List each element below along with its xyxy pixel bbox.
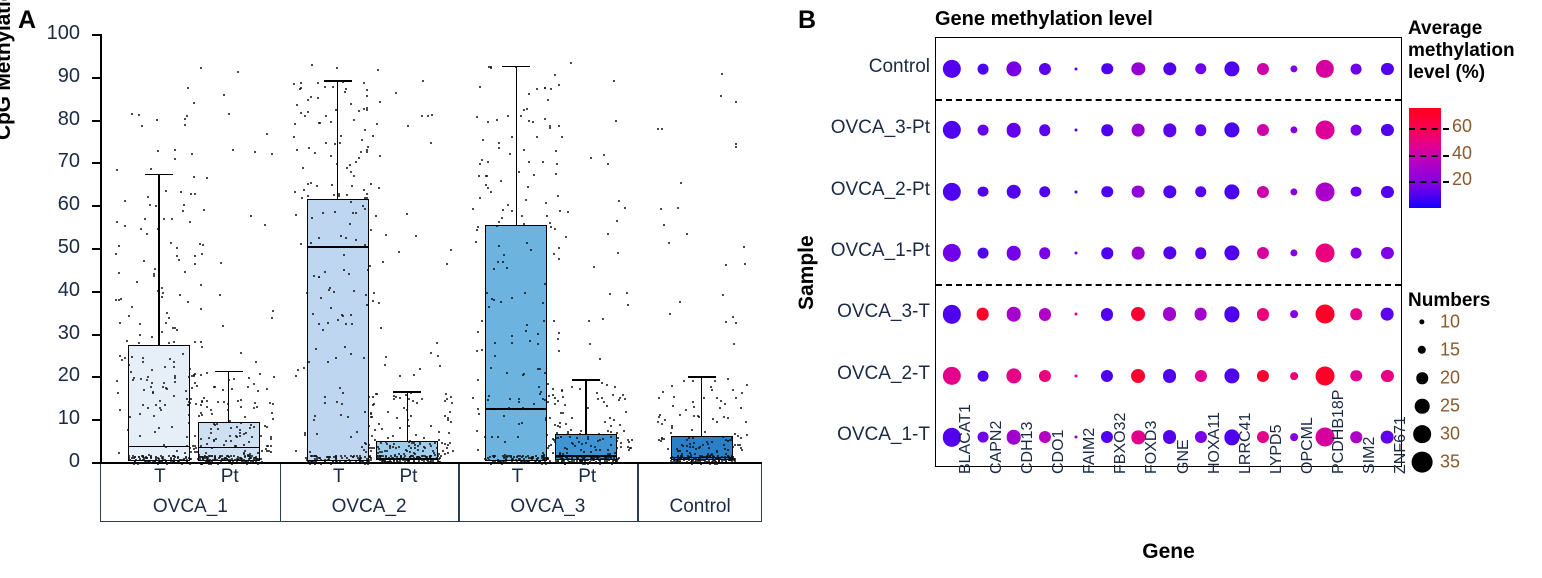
boxplot-data-point xyxy=(673,396,675,398)
dotplot-point xyxy=(942,367,960,385)
boxplot-data-point xyxy=(353,175,355,177)
boxplot-data-point xyxy=(564,404,566,406)
dotplot-point xyxy=(1075,129,1078,132)
boxplot-data-point xyxy=(542,161,544,163)
boxplot-data-point xyxy=(415,434,417,436)
boxplot-data-point xyxy=(184,118,186,120)
boxplot-data-point xyxy=(546,215,548,217)
boxplot-data-point xyxy=(158,458,160,460)
boxplot-data-point xyxy=(193,102,195,104)
boxplot-data-point xyxy=(561,458,563,460)
boxplot-data-point xyxy=(304,434,306,436)
boxplot-data-point xyxy=(732,389,734,391)
boxplot-data-point xyxy=(533,403,535,405)
boxplot-data-point xyxy=(310,242,312,244)
boxplot-data-point xyxy=(378,423,380,425)
boxplot-data-point xyxy=(150,168,152,170)
boxplot-data-point xyxy=(398,251,400,253)
boxplot-data-point xyxy=(631,439,633,441)
boxplot-data-point xyxy=(623,430,625,432)
boxplot-data-point xyxy=(733,343,735,345)
boxplot-data-point xyxy=(353,119,355,121)
dotplot-point xyxy=(942,60,960,78)
boxplot-data-point xyxy=(542,452,544,454)
boxplot-data-point xyxy=(308,147,310,149)
boxplot-data-point xyxy=(210,463,212,465)
boxplot-data-point xyxy=(261,461,263,463)
boxplot-data-point xyxy=(569,436,571,438)
x-axis-sub-label: Pt xyxy=(562,466,612,488)
boxplot-data-point xyxy=(610,457,612,459)
boxplot-data-point xyxy=(523,109,525,111)
boxplot-data-point xyxy=(586,459,588,461)
dotplot-point xyxy=(1195,124,1207,136)
boxplot-data-point xyxy=(671,427,673,429)
dotplot-point xyxy=(1101,370,1113,382)
boxplot-data-point xyxy=(200,445,202,447)
boxplot-data-point xyxy=(558,456,560,458)
boxplot-data-point xyxy=(554,397,556,399)
boxplot-data-point xyxy=(502,261,504,263)
boxplot-data-point xyxy=(419,368,421,370)
boxplot-data-point xyxy=(173,460,175,462)
boxplot-data-point xyxy=(210,428,212,430)
boxplot-data-point xyxy=(548,395,550,397)
boxplot-data-point xyxy=(596,392,598,394)
boxplot-data-point xyxy=(384,450,386,452)
dotplot-point xyxy=(977,125,988,136)
boxplot-data-point xyxy=(617,437,619,439)
boxplot-data-point xyxy=(493,299,495,301)
boxplot-data-point xyxy=(248,441,250,443)
boxplot-data-point xyxy=(131,356,133,358)
boxplot-data-point xyxy=(378,302,380,304)
dotplot-point xyxy=(1075,190,1078,193)
boxplot-data-point xyxy=(532,121,534,123)
boxplot-data-point xyxy=(511,136,513,138)
boxplot-data-point xyxy=(658,439,660,441)
boxplot-data-point xyxy=(243,433,245,435)
boxplot-data-point xyxy=(152,460,154,462)
y-axis-tick-label: 60 xyxy=(30,193,80,216)
boxplot-median xyxy=(307,246,369,248)
dotplot-point xyxy=(1007,307,1022,322)
boxplot-data-point xyxy=(729,462,731,464)
boxplot-data-point xyxy=(732,316,734,318)
boxplot-data-point xyxy=(211,447,213,449)
boxplot-data-point xyxy=(547,383,549,385)
boxplot-data-point xyxy=(201,414,203,416)
boxplot-data-point xyxy=(342,392,344,394)
boxplot-data-point xyxy=(155,404,157,406)
boxplot-data-point xyxy=(222,389,224,391)
boxplot-data-point xyxy=(617,252,619,254)
boxplot-data-point xyxy=(336,163,338,165)
boxplot-data-point xyxy=(735,146,737,148)
dotplot-point xyxy=(1101,247,1113,259)
dotplot-point xyxy=(1316,60,1334,78)
dotplot-column-label: OPCML xyxy=(1299,417,1317,474)
boxplot-data-point xyxy=(544,458,546,460)
boxplot-data-point xyxy=(228,460,230,462)
boxplot-data-point xyxy=(688,456,690,458)
x-axis-sub-label: Pt xyxy=(205,466,255,488)
dotplot-point xyxy=(1257,308,1269,320)
boxplot-data-point xyxy=(490,67,492,69)
size-legend-title: Numbers xyxy=(1408,290,1490,312)
boxplot-data-point xyxy=(431,462,433,464)
boxplot-data-point xyxy=(710,386,712,388)
y-axis-tick-label: 40 xyxy=(30,279,80,302)
boxplot-data-point xyxy=(711,389,713,391)
boxplot-data-point xyxy=(140,228,142,230)
boxplot-data-point xyxy=(583,451,585,453)
x-axis-sub-label: T xyxy=(314,466,364,488)
panel-a-plot-area xyxy=(100,35,762,463)
boxplot-data-point xyxy=(395,396,397,398)
boxplot-data-point xyxy=(116,169,118,171)
boxplot-data-point xyxy=(414,453,416,455)
boxplot-data-point xyxy=(199,243,201,245)
boxplot-data-point xyxy=(348,273,350,275)
boxplot-data-point xyxy=(571,386,573,388)
boxplot-data-point xyxy=(160,409,162,411)
boxplot-data-point xyxy=(614,452,616,454)
boxplot-data-point xyxy=(598,433,600,435)
boxplot-data-point xyxy=(718,460,720,462)
boxplot-data-point xyxy=(518,401,520,403)
dotplot-point xyxy=(1006,368,1021,383)
boxplot-data-point xyxy=(573,461,575,463)
boxplot-data-point xyxy=(490,191,492,193)
dotplot-column-label: PCDHB18P xyxy=(1330,390,1348,474)
boxplot-data-point xyxy=(194,193,196,195)
dotplot-row-label: OVCA_1-T xyxy=(765,424,930,446)
boxplot-data-point xyxy=(521,456,523,458)
boxplot-data-point xyxy=(131,113,133,115)
boxplot-data-point xyxy=(381,428,383,430)
boxplot-data-point xyxy=(607,430,609,432)
boxplot-data-point xyxy=(692,446,694,448)
boxplot-data-point xyxy=(207,457,209,459)
boxplot-data-point xyxy=(119,355,121,357)
boxplot-data-point xyxy=(370,229,372,231)
x-axis-group-label: Control xyxy=(637,496,763,518)
boxplot-data-point xyxy=(610,444,612,446)
boxplot-data-point xyxy=(213,462,215,464)
boxplot-data-point xyxy=(477,449,479,451)
dotplot-point xyxy=(1039,63,1051,75)
boxplot-data-point xyxy=(131,306,133,308)
panel-b-dotplot: B Gene methylation level Sample Gene Con… xyxy=(790,0,1542,578)
boxplot-data-point xyxy=(171,218,173,220)
boxplot-data-point xyxy=(490,463,492,465)
dotplot-column-label: CDO1 xyxy=(1050,430,1068,474)
boxplot-data-point xyxy=(235,435,237,437)
dotplot-point xyxy=(1039,124,1051,136)
boxplot-data-point xyxy=(686,461,688,463)
boxplot-data-point xyxy=(407,125,409,127)
boxplot-data-point xyxy=(679,301,681,303)
boxplot-data-point xyxy=(554,74,556,76)
boxplot-data-point xyxy=(362,205,364,207)
dotplot-point xyxy=(976,308,989,321)
boxplot-data-point xyxy=(609,293,611,295)
boxplot-data-point xyxy=(408,398,410,400)
dotplot-point xyxy=(1290,65,1297,72)
dotplot-point xyxy=(1163,62,1176,75)
boxplot-data-point xyxy=(201,456,203,458)
boxplot-data-point xyxy=(133,377,135,379)
boxplot-data-point xyxy=(244,455,246,457)
boxplot-data-point xyxy=(191,375,193,377)
boxplot-data-point xyxy=(686,439,688,441)
size-legend-dot xyxy=(1412,452,1433,473)
boxplot-data-point xyxy=(180,191,182,193)
dotplot-point xyxy=(1351,63,1362,74)
boxplot-data-point xyxy=(310,96,312,98)
dotplot-column-label: FAIM2 xyxy=(1081,428,1099,474)
boxplot-data-point xyxy=(549,417,551,419)
dotplot-point xyxy=(1131,307,1145,321)
boxplot-data-point xyxy=(743,246,745,248)
boxplot-data-point xyxy=(318,237,320,239)
boxplot-data-point xyxy=(394,458,396,460)
dotplot-point xyxy=(1075,374,1078,377)
dotplot-point xyxy=(1381,308,1394,321)
boxplot-data-point xyxy=(364,244,366,246)
boxplot-data-point xyxy=(140,378,142,380)
boxplot-data-point xyxy=(559,452,561,454)
boxplot-data-point xyxy=(223,94,225,96)
dotplot-point xyxy=(942,121,960,139)
boxplot-data-point xyxy=(599,358,601,360)
dotplot-point xyxy=(1195,247,1207,259)
boxplot-data-point xyxy=(732,446,734,448)
boxplot-data-point xyxy=(436,447,438,449)
boxplot-data-point xyxy=(387,437,389,439)
boxplot-data-point xyxy=(373,403,375,405)
boxplot-data-point xyxy=(518,398,520,400)
dotplot-point xyxy=(1163,307,1177,321)
boxplot-data-point xyxy=(590,157,592,159)
boxplot-data-point xyxy=(544,372,546,374)
boxplot-data-point xyxy=(271,317,273,319)
boxplot-data-point xyxy=(346,167,348,169)
boxplot-data-point xyxy=(171,426,173,428)
size-legend-dot xyxy=(1418,346,1426,354)
color-legend-tick-label: 60 xyxy=(1452,116,1472,137)
boxplot-data-point xyxy=(708,447,710,449)
boxplot-data-point xyxy=(405,449,407,451)
boxplot-data-point xyxy=(557,462,559,464)
boxplot-data-point xyxy=(303,367,305,369)
boxplot-data-point xyxy=(549,460,551,462)
boxplot-data-point xyxy=(330,121,332,123)
boxplot-data-point xyxy=(486,175,488,177)
x-axis-group-label: OVCA_3 xyxy=(458,496,637,518)
boxplot-data-point xyxy=(679,450,681,452)
boxplot-data-point xyxy=(532,456,534,458)
size-legend-label: 25 xyxy=(1440,396,1460,417)
boxplot-data-point xyxy=(206,400,208,402)
boxplot-data-point xyxy=(601,397,603,399)
boxplot-data-point xyxy=(188,422,190,424)
boxplot-data-point xyxy=(528,460,530,462)
boxplot-data-point xyxy=(129,416,131,418)
boxplot-data-point xyxy=(567,431,569,433)
dotplot-point xyxy=(1224,368,1239,383)
boxplot-data-point xyxy=(627,304,629,306)
dotplot-point xyxy=(1224,61,1239,76)
boxplot-data-point xyxy=(609,417,611,419)
boxplot-data-point xyxy=(116,380,118,382)
boxplot-data-point xyxy=(693,415,695,417)
boxplot-data-point xyxy=(328,456,330,458)
boxplot-box xyxy=(307,199,369,461)
dotplot-point xyxy=(1039,186,1051,198)
boxplot-data-point xyxy=(669,313,671,315)
boxplot-data-point xyxy=(515,459,517,461)
dotplot-point xyxy=(1316,366,1335,385)
boxplot-data-point xyxy=(322,212,324,214)
dotplot-point xyxy=(1290,372,1298,380)
boxplot-data-point xyxy=(181,463,183,465)
y-axis-tick-label: 30 xyxy=(30,322,80,345)
boxplot-data-point xyxy=(725,460,727,462)
boxplot-data-point xyxy=(247,460,249,462)
size-legend-dot xyxy=(1419,319,1424,324)
dotplot-point xyxy=(1224,307,1239,322)
boxplot-data-point xyxy=(716,450,718,452)
boxplot-data-point xyxy=(692,462,694,464)
boxplot-data-point xyxy=(498,147,500,149)
boxplot-data-point xyxy=(590,462,592,464)
boxplot-data-point xyxy=(415,235,417,237)
dotplot-point xyxy=(1007,184,1022,199)
boxplot-data-point xyxy=(587,436,589,438)
boxplot-data-point xyxy=(545,202,547,204)
boxplot-data-point xyxy=(324,271,326,273)
boxplot-data-point xyxy=(153,415,155,417)
boxplot-data-point xyxy=(131,457,133,459)
dotplot-group-separator xyxy=(936,284,1401,286)
boxplot-whisker-cap xyxy=(572,379,600,381)
boxplot-data-point xyxy=(250,424,252,426)
boxplot-data-point xyxy=(313,275,315,277)
boxplot-data-point xyxy=(142,455,144,457)
boxplot-data-point xyxy=(217,463,219,465)
boxplot-data-point xyxy=(366,304,368,306)
boxplot-data-point xyxy=(200,374,202,376)
dotplot-point xyxy=(1381,370,1393,382)
boxplot-data-point xyxy=(341,314,343,316)
boxplot-data-point xyxy=(352,456,354,458)
dotplot-column-label: BLACAT1 xyxy=(957,404,975,474)
color-legend-title: Average methylation level (%) xyxy=(1408,18,1538,84)
boxplot-data-point xyxy=(585,442,587,444)
boxplot-data-point xyxy=(599,439,601,441)
boxplot-data-point xyxy=(142,357,144,359)
boxplot-data-point xyxy=(316,185,318,187)
boxplot-data-point xyxy=(152,391,154,393)
boxplot-data-point xyxy=(165,446,167,448)
x-axis-sub-label: T xyxy=(135,466,185,488)
boxplot-data-point xyxy=(161,287,163,289)
boxplot-data-point xyxy=(173,341,175,343)
boxplot-data-point xyxy=(690,456,692,458)
dotplot-point xyxy=(1101,124,1113,136)
boxplot-data-point xyxy=(730,459,732,461)
boxplot-data-point xyxy=(587,455,589,457)
boxplot-data-point xyxy=(545,463,547,465)
boxplot-data-point xyxy=(117,392,119,394)
boxplot-data-point xyxy=(119,322,121,324)
boxplot-data-point xyxy=(686,445,688,447)
boxplot-data-point xyxy=(327,322,329,324)
boxplot-data-point xyxy=(144,461,146,463)
boxplot-data-point xyxy=(541,463,543,465)
boxplot-data-point xyxy=(430,142,432,144)
dotplot-point xyxy=(977,186,988,197)
dotplot-point xyxy=(977,63,988,74)
boxplot-data-point xyxy=(311,64,313,66)
boxplot-data-point xyxy=(166,463,168,465)
size-legend-dot xyxy=(1415,399,1430,414)
boxplot-data-point xyxy=(612,460,614,462)
dotplot-point xyxy=(1316,305,1335,324)
boxplot-data-point xyxy=(251,462,253,464)
boxplot-data-point xyxy=(301,197,303,199)
boxplot-data-point xyxy=(689,443,691,445)
dotplot-point xyxy=(1131,369,1145,383)
boxplot-data-point xyxy=(402,459,404,461)
boxplot-data-point xyxy=(544,118,546,120)
boxplot-data-point xyxy=(422,80,424,82)
dotplot-point xyxy=(1351,309,1363,321)
dotplot-point xyxy=(1075,436,1078,439)
dotplot-point xyxy=(942,305,960,323)
boxplot-data-point xyxy=(692,401,694,403)
dotplot-point xyxy=(1195,370,1207,382)
dotplot-column-label: CDH13 xyxy=(1019,422,1037,474)
boxplot-data-point xyxy=(352,212,354,214)
boxplot-data-point xyxy=(231,463,233,465)
boxplot-data-point xyxy=(413,457,415,459)
boxplot-data-point xyxy=(505,459,507,461)
boxplot-data-point xyxy=(488,462,490,464)
boxplot-data-point xyxy=(164,366,166,368)
boxplot-whisker-cap xyxy=(324,80,352,82)
panel-a-boxplot: A CpG Methylation level (%) 010203040506… xyxy=(0,0,790,578)
boxplot-data-point xyxy=(601,382,603,384)
boxplot-data-point xyxy=(494,355,496,357)
boxplot-median xyxy=(485,408,547,410)
boxplot-data-point xyxy=(550,226,552,228)
boxplot-data-point xyxy=(316,458,318,460)
boxplot-data-point xyxy=(308,361,310,363)
boxplot-data-point xyxy=(688,437,690,439)
boxplot-data-point xyxy=(191,462,193,464)
boxplot-data-point xyxy=(191,153,193,155)
boxplot-data-point xyxy=(707,443,709,445)
boxplot-data-point xyxy=(349,164,351,166)
boxplot-data-point xyxy=(347,416,349,418)
boxplot-data-point xyxy=(270,451,272,453)
boxplot-data-point xyxy=(410,447,412,449)
dotplot-point xyxy=(1224,184,1239,199)
size-legend-dot xyxy=(1416,372,1428,384)
